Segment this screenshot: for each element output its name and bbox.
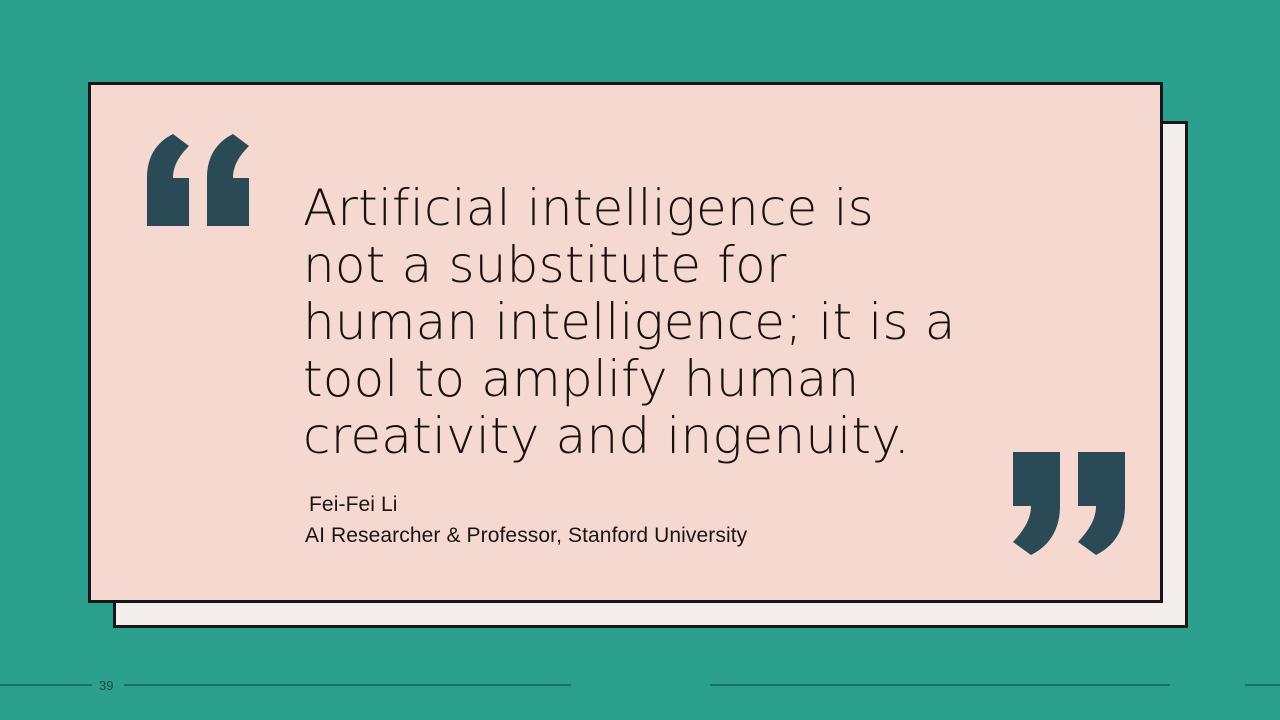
open-quote-icon xyxy=(143,134,253,226)
footer-rule-right xyxy=(1245,684,1280,686)
quote-slide: Artificial intelligence is not a substit… xyxy=(0,0,1280,720)
page-number: 39 xyxy=(99,676,113,696)
quote-content: Artificial intelligence is not a substit… xyxy=(303,180,1003,550)
quote-text: Artificial intelligence is not a substit… xyxy=(303,180,1003,465)
footer-rule-left xyxy=(0,684,92,686)
attribution-role: AI Researcher & Professor, Stanford Univ… xyxy=(305,521,1003,550)
slide-footer: 39 xyxy=(0,676,1280,696)
footer-rule-mid-right xyxy=(710,684,1170,686)
attribution-name: Fei-Fei Li xyxy=(309,491,1003,519)
footer-rule-mid-left xyxy=(124,684,571,686)
attribution-block: Fei-Fei Li AI Researcher & Professor, St… xyxy=(303,491,1003,550)
close-quote-icon xyxy=(1009,452,1131,555)
